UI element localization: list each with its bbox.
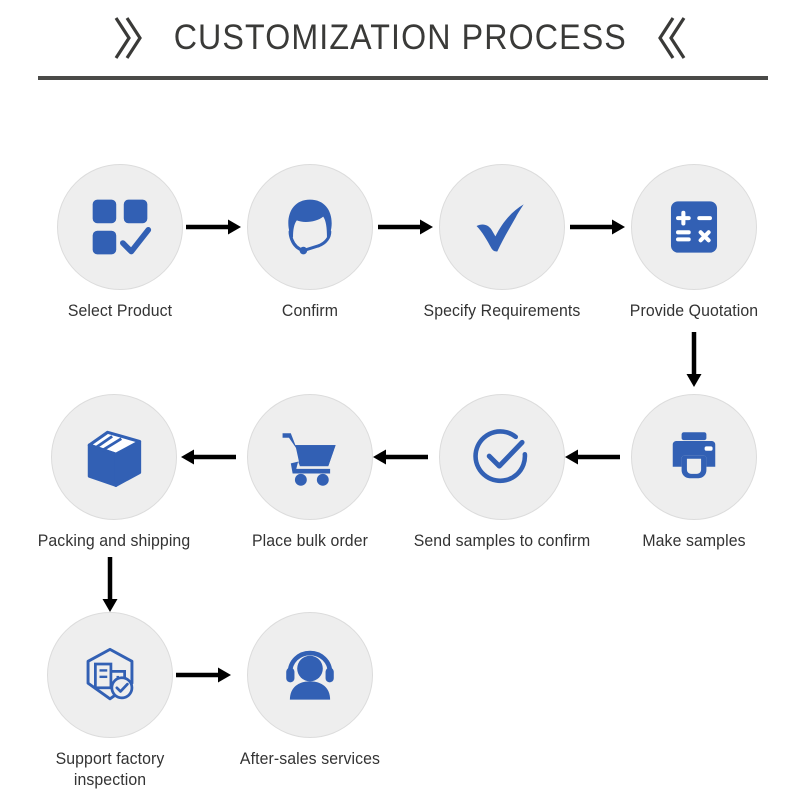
step-icon-circle (47, 612, 173, 738)
flow-step-label: Provide Quotation (603, 301, 785, 322)
flow-step-label: After-sales services (219, 749, 401, 770)
flow-step-support-factory-inspection[interactable]: Support factory inspection (15, 612, 205, 791)
flow-step-packing-and-shipping[interactable]: Packing and shipping (19, 394, 209, 552)
step-icon-circle (247, 164, 373, 290)
flow-step-label: Packing and shipping (23, 531, 205, 552)
double-chevron-right-icon (110, 15, 144, 61)
calculator-icon (663, 196, 725, 258)
step-icon-circle (631, 164, 757, 290)
page-title: CUSTOMIZATION PROCESS (173, 18, 626, 58)
flow-step-label: Confirm (219, 301, 401, 322)
checkmark-icon (469, 194, 535, 260)
flow-step-label: Send samples to confirm (411, 531, 593, 552)
support-person-icon (278, 643, 342, 707)
flow-step-provide-quotation[interactable]: Provide Quotation (599, 164, 789, 322)
step-icon-circle (247, 612, 373, 738)
shopping-cart-icon (278, 425, 342, 489)
grid-check-icon (87, 194, 153, 260)
page-header: CUSTOMIZATION PROCESS (0, 0, 800, 92)
title-row: CUSTOMIZATION PROCESS (0, 8, 800, 68)
arrow-row2-to-row3 (100, 557, 120, 613)
step-icon-circle (439, 394, 565, 520)
step-icon-circle (247, 394, 373, 520)
flow-step-label: Specify Requirements (411, 301, 593, 322)
step-icon-circle (57, 164, 183, 290)
flow-step-place-bulk-order[interactable]: Place bulk order (215, 394, 405, 552)
step-icon-circle (631, 394, 757, 520)
package-box-icon (82, 425, 146, 489)
flow-step-make-samples[interactable]: Make samples (599, 394, 789, 552)
step-icon-circle (51, 394, 177, 520)
flow-step-send-samples-to-confirm[interactable]: Send samples to confirm (407, 394, 597, 552)
headset-agent-icon (277, 194, 343, 260)
flow-step-specify-requirements[interactable]: Specify Requirements (407, 164, 597, 322)
flow-step-confirm[interactable]: Confirm (215, 164, 405, 322)
header-divider (38, 76, 768, 80)
flow-step-label: Place bulk order (219, 531, 401, 552)
factory-inspection-shield-icon (78, 643, 142, 707)
circle-check-icon (470, 425, 534, 489)
flow-step-label: Select Product (29, 301, 211, 322)
printer-icon (663, 426, 725, 488)
flow-step-after-sales-services[interactable]: After-sales services (215, 612, 405, 770)
flow-step-select-product[interactable]: Select Product (25, 164, 215, 322)
flow-step-label: Make samples (603, 531, 785, 552)
process-flow: Select Product Confirm (0, 92, 800, 800)
flow-step-label: Support factory inspection (19, 749, 201, 791)
step-icon-circle (439, 164, 565, 290)
arrow-row1-to-row2 (684, 332, 704, 388)
double-chevron-left-icon (656, 15, 690, 61)
